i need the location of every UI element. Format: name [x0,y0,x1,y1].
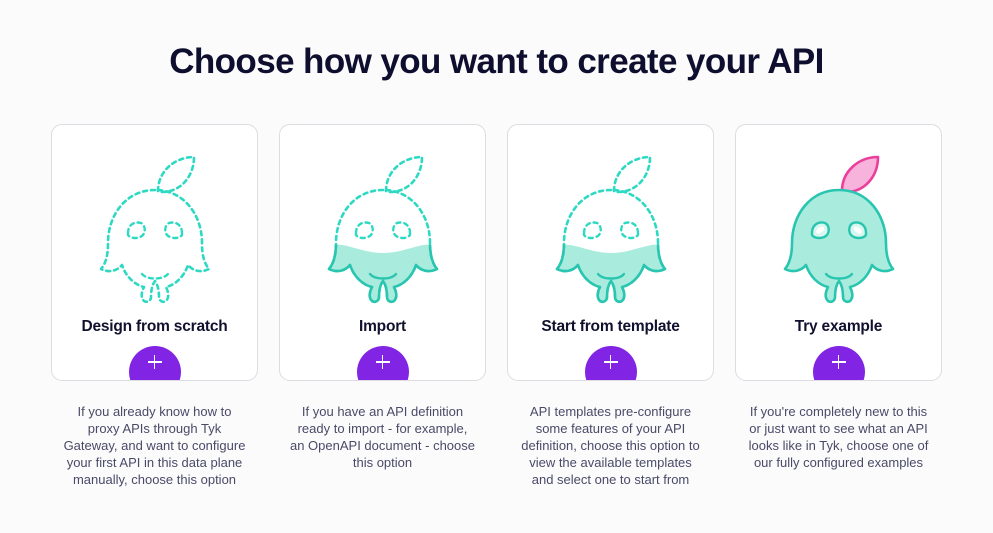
options-row: Design from scratch If you already know … [50,124,943,488]
option-title: Start from template [541,318,679,336]
option-title: Try example [795,318,882,336]
option-design-from-scratch: Design from scratch If you already know … [50,124,259,488]
add-start-from-template-button[interactable] [585,346,637,381]
option-description: If you already know how to proxy APIs th… [62,403,248,488]
option-description: If you're completely new to this or just… [746,403,932,471]
option-description: If you have an API definition ready to i… [290,403,476,471]
tyk-mascot-full-fill-icon [779,147,899,307]
plus-icon [603,354,619,370]
option-card-design-from-scratch[interactable]: Design from scratch [51,124,258,381]
option-card-try-example[interactable]: Try example [735,124,942,381]
tyk-mascot-partial-fill-icon [323,147,443,307]
option-title: Import [359,318,406,336]
add-import-button[interactable] [357,346,409,381]
create-api-chooser-page: Choose how you want to create your API [0,0,993,533]
page-title: Choose how you want to create your API [0,40,993,84]
option-try-example: Try example If you're completely new to … [734,124,943,471]
option-title: Design from scratch [81,318,227,336]
tyk-mascot-outline-icon [95,147,215,307]
add-design-from-scratch-button[interactable] [129,346,181,381]
add-try-example-button[interactable] [813,346,865,381]
option-start-from-template: Start from template API templates pre-co… [506,124,715,488]
option-import: Import If you have an API definition rea… [278,124,487,471]
plus-icon [831,354,847,370]
option-description: API templates pre-configure some feature… [518,403,704,488]
tyk-mascot-partial-fill-icon [551,147,671,307]
option-card-start-from-template[interactable]: Start from template [507,124,714,381]
plus-icon [375,354,391,370]
plus-icon [147,354,163,370]
option-card-import[interactable]: Import [279,124,486,381]
